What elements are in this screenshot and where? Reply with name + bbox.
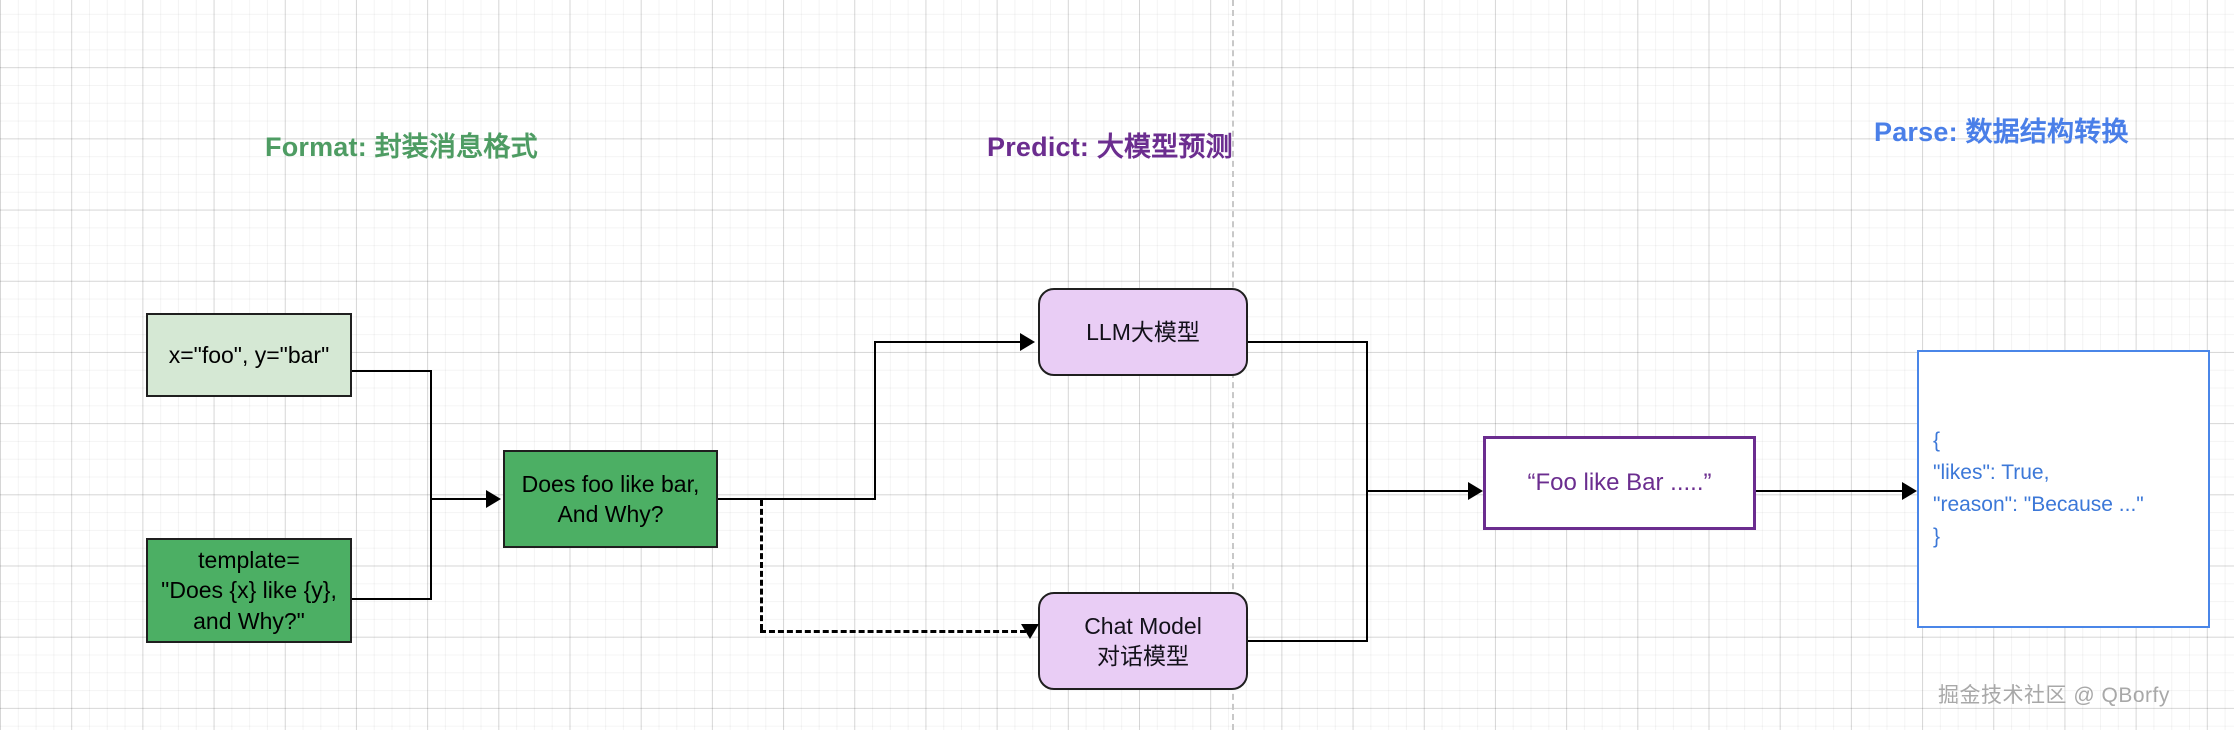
diagram-canvas: Format: 封装消息格式 Predict: 大模型预测 Parse: 数据结… — [0, 0, 2234, 730]
node-chat-model[interactable]: Chat Model 对话模型 — [1038, 592, 1248, 690]
edge-join-to-prompt — [430, 498, 488, 500]
edge-join-vertical-left — [430, 370, 432, 600]
edge-prompt-out-solid — [718, 498, 876, 500]
node-inputs[interactable]: x="foo", y="bar" — [146, 313, 352, 397]
edge-response-to-parsed — [1756, 490, 1904, 492]
section-title-parse: Parse: 数据结构转换 — [1874, 110, 2129, 149]
node-response[interactable]: “Foo like Bar .....” — [1483, 436, 1756, 530]
edge-into-llm — [874, 341, 1022, 343]
edge-llm-out — [1248, 341, 1368, 343]
edge-chat-model-out — [1248, 640, 1368, 642]
node-parsed-json[interactable]: { "likes": True, "reason": "Because ..."… — [1917, 350, 2210, 628]
arrow-into-parsed-icon — [1902, 482, 1917, 500]
arrow-into-prompt-icon — [486, 490, 501, 508]
edge-inputs-out — [352, 370, 432, 372]
edge-join-to-response — [1366, 490, 1470, 492]
arrow-into-llm-icon — [1020, 333, 1035, 351]
arrow-into-response-icon — [1468, 482, 1483, 500]
edge-prompt-down-dashed — [760, 500, 763, 630]
edge-template-out — [352, 598, 432, 600]
section-title-format: Format: 封装消息格式 — [265, 125, 538, 164]
watermark: 掘金技术社区 @ QBorfy — [1938, 679, 2170, 709]
node-llm[interactable]: LLM大模型 — [1038, 288, 1248, 376]
section-title-predict: Predict: 大模型预测 — [987, 125, 1233, 164]
edge-prompt-up-to-llm — [874, 341, 876, 500]
node-prompt[interactable]: Does foo like bar, And Why? — [503, 450, 718, 548]
edge-into-chat-model-dashed — [760, 630, 1026, 633]
arrow-into-chat-model-icon — [1021, 624, 1039, 639]
node-template[interactable]: template= "Does {x} like {y}, and Why?" — [146, 538, 352, 643]
